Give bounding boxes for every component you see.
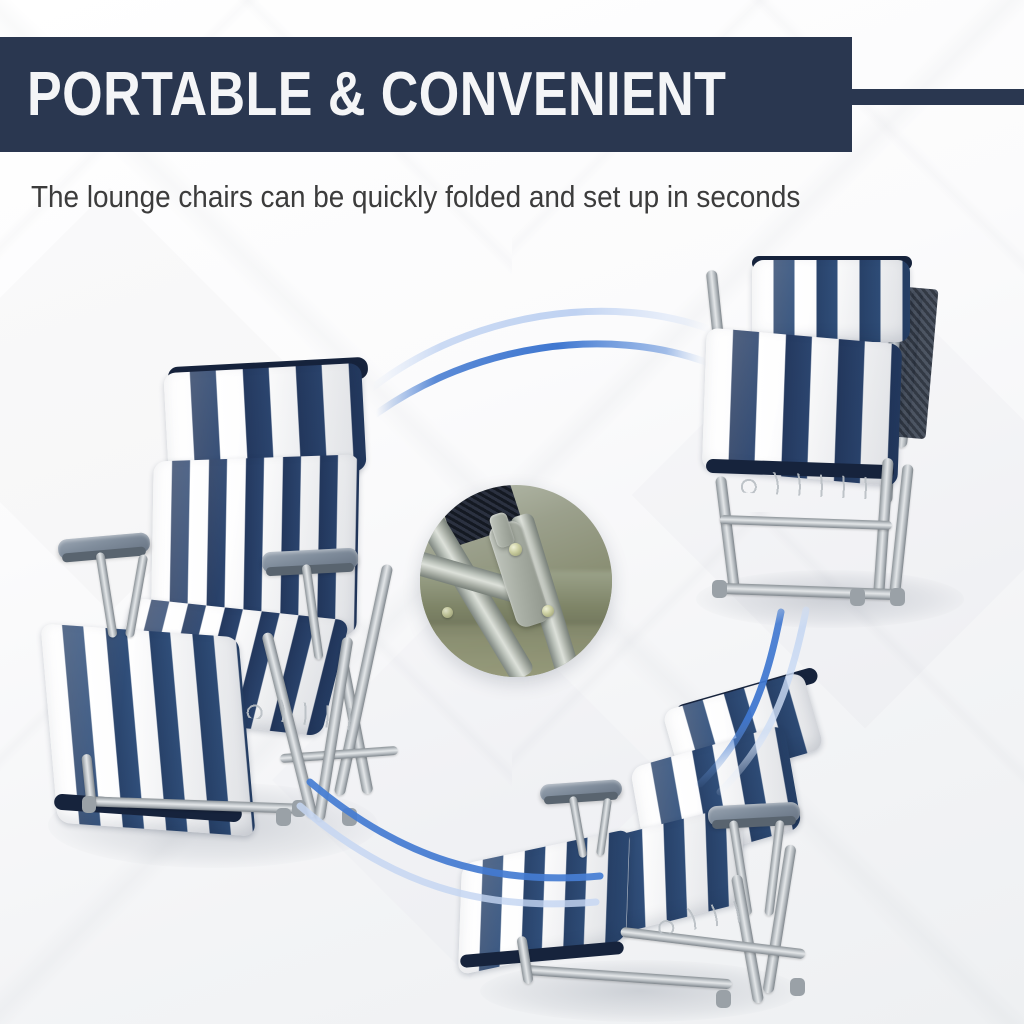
page-subtitle: The lounge chairs can be quickly folded … — [31, 178, 886, 216]
page-title: PORTABLE & CONVENIENT — [27, 64, 726, 126]
frame-reclined-rear-leg — [762, 844, 796, 994]
detail-screw-top — [509, 543, 522, 556]
frame-foot-cap — [790, 978, 805, 996]
frame-foot-cap — [82, 796, 96, 813]
chair-unfolded-recliner — [40, 330, 420, 850]
frame-foot-cap — [850, 588, 865, 606]
header-accent-rule — [845, 89, 1024, 105]
frame-foot-cap — [716, 990, 731, 1008]
frame-folded-leg — [715, 476, 740, 592]
folded-headrest-cushion — [752, 260, 910, 342]
frame-foot-cap — [712, 580, 727, 598]
frame-foot-cap — [890, 588, 905, 606]
detail-rivet-left — [442, 607, 453, 618]
frame-folded-cross — [720, 515, 892, 530]
hinge-detail-inset — [420, 485, 612, 677]
frame-foot-cap — [276, 808, 291, 826]
frame-foot-cap — [292, 800, 306, 817]
chair-folded — [690, 250, 1000, 620]
frame-armrest-support-left — [95, 552, 117, 638]
chair-reclined — [440, 660, 840, 1024]
detail-screw-bottom — [542, 605, 554, 617]
header-banner: PORTABLE & CONVENIENT — [0, 37, 852, 152]
frame-foot-cap — [342, 808, 357, 826]
